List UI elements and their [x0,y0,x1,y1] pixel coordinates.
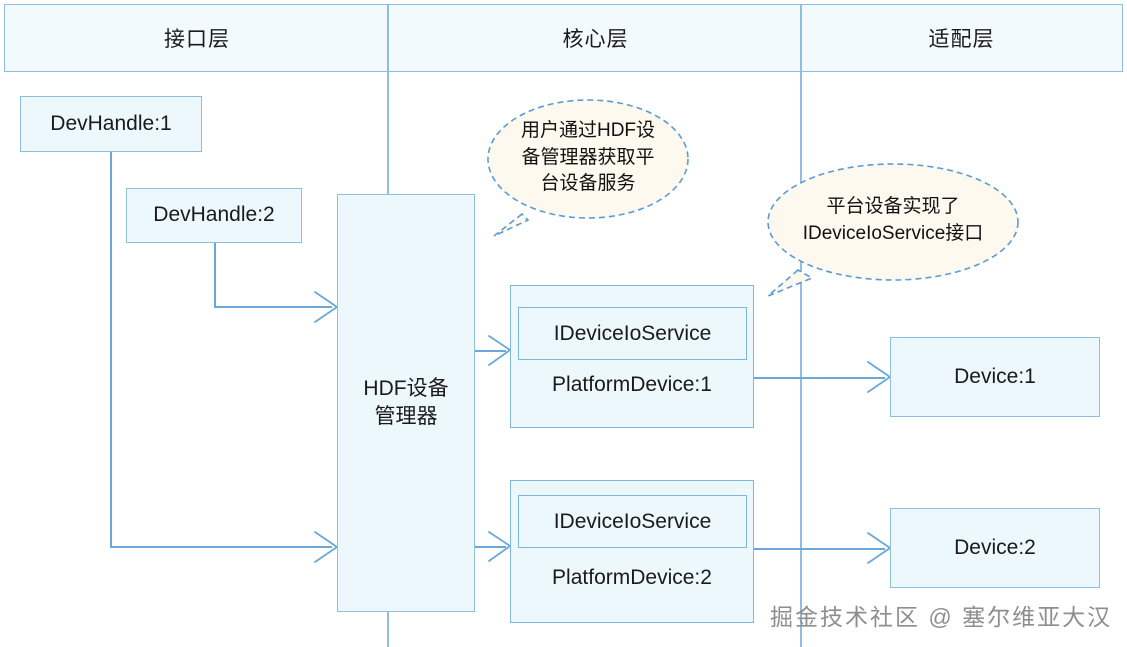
connector-platform2-to-device2 [753,548,885,550]
node-dev-handle-2-label: DevHandle:2 [153,201,274,229]
callout-hdf-manager-text: 用户通过HDF设 备管理器获取平 台设备服务 [484,96,692,236]
layer-header-band: 接口层 核心层 适配层 [4,4,1123,72]
connector-devhandle1-vertical [110,152,112,547]
node-platform-device-group-2[interactable]: IDeviceIoService PlatformDevice:2 [510,480,754,623]
layer-header-core: 核心层 [389,5,802,71]
node-ideviceioservice-1-label: IDeviceIoService [554,322,712,346]
node-dev-handle-1[interactable]: DevHandle:1 [20,96,202,152]
connector-devhandle2-vertical [214,242,216,307]
callout-hdf-manager: 用户通过HDF设 备管理器获取平 台设备服务 [484,96,692,236]
connector-hdf-to-platform1 [474,350,506,352]
watermark-text: 掘金技术社区 @ 塞尔维亚大汉 [770,598,1112,632]
node-hdf-device-manager[interactable]: HDF设备 管理器 [337,194,475,612]
node-device-1[interactable]: Device:1 [890,337,1100,417]
node-hdf-device-manager-line1: HDF设备 [363,375,448,403]
connector-devhandle1-horizontal [110,546,332,548]
node-hdf-device-manager-line2: 管理器 [375,403,438,431]
node-ideviceioservice-2[interactable]: IDeviceIoService [518,495,747,548]
node-platform-device-1-label: PlatformDevice:1 [511,373,753,397]
node-ideviceioservice-2-label: IDeviceIoService [554,510,712,534]
diagram-canvas: 接口层 核心层 适配层 [0,0,1127,647]
layer-header-interface-label: 接口层 [164,23,230,53]
node-dev-handle-2[interactable]: DevHandle:2 [126,188,302,243]
connector-hdf-to-platform2 [474,546,506,548]
callout-hdf-manager-line2: 备管理器获取平 [521,145,654,172]
layer-header-adaptation: 适配层 [802,5,1121,71]
node-device-2[interactable]: Device:2 [890,508,1100,588]
callout-hdf-manager-line1: 用户通过HDF设 [521,118,655,145]
callout-hdf-manager-line3: 台设备服务 [540,171,635,198]
node-platform-device-group-1[interactable]: IDeviceIoService PlatformDevice:1 [510,285,754,428]
callout-platform-device: 平台设备实现了 IDeviceIoService接口 [764,160,1022,296]
connector-devhandle2-horizontal [214,306,332,308]
column-divider-2 [800,4,802,647]
layer-header-interface: 接口层 [5,5,389,71]
node-dev-handle-1-label: DevHandle:1 [50,110,171,138]
node-platform-device-2-label: PlatformDevice:2 [511,566,753,590]
layer-header-core-label: 核心层 [563,23,629,53]
callout-platform-device-line1: 平台设备实现了 [826,194,959,221]
node-device-1-label: Device:1 [954,363,1036,391]
callout-platform-device-text: 平台设备实现了 IDeviceIoService接口 [764,160,1022,296]
node-ideviceioservice-1[interactable]: IDeviceIoService [518,307,747,360]
node-device-2-label: Device:2 [954,534,1036,562]
callout-platform-device-line2: IDeviceIoService接口 [803,221,984,248]
layer-header-adaptation-label: 适配层 [929,23,995,53]
connector-platform1-to-device1 [753,377,885,379]
